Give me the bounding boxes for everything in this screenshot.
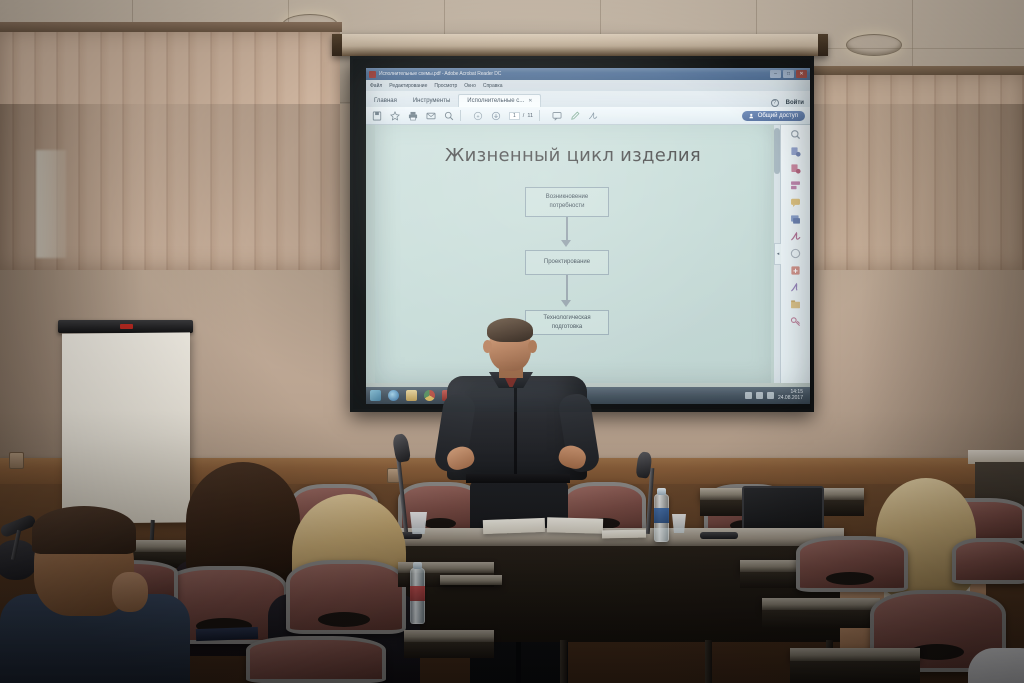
star-icon[interactable] bbox=[390, 111, 400, 121]
flowchart-arrow-head-icon bbox=[561, 240, 571, 247]
acrobat-icon bbox=[369, 71, 376, 78]
toolbar-nav-group[interactable]: 1 / 11 bbox=[467, 111, 533, 121]
comment-icon[interactable] bbox=[552, 111, 562, 121]
papers-on-table bbox=[602, 530, 646, 539]
water-bottle-label bbox=[410, 586, 425, 601]
flowchart-arrow-head-icon bbox=[561, 300, 571, 307]
share-button[interactable]: Общий доступ bbox=[742, 111, 805, 121]
menu-item-view[interactable]: Просмотр bbox=[434, 83, 457, 89]
projected-desktop[interactable]: Исполнительные схемы.pdf - Adobe Acrobat… bbox=[366, 68, 810, 404]
presenter-ear bbox=[483, 340, 492, 353]
tab-close-icon[interactable]: ✕ bbox=[528, 98, 532, 104]
tab-home[interactable]: Главная bbox=[366, 95, 405, 107]
pdf-page[interactable]: Жизненный цикл изделия Возникновение пот… bbox=[375, 125, 771, 383]
menu-item-edit[interactable]: Редактирование bbox=[389, 83, 427, 89]
fill-sign-icon[interactable] bbox=[790, 231, 801, 242]
slide-title: Жизненный цикл изделия bbox=[375, 145, 771, 166]
share-button-label: Общий доступ bbox=[758, 113, 798, 119]
create-pdf-icon[interactable] bbox=[790, 163, 801, 174]
toolbar-divider bbox=[539, 110, 540, 121]
presenter-hair bbox=[487, 318, 533, 342]
table-leg bbox=[560, 640, 567, 683]
menu-item-window[interactable]: Окно bbox=[464, 83, 476, 89]
flowchart-box-3: Технологическая подготовка bbox=[525, 310, 609, 335]
question-circle-icon[interactable]: ? bbox=[771, 99, 779, 107]
internet-explorer-icon[interactable] bbox=[388, 390, 399, 401]
audience-man-front-left-hair bbox=[32, 506, 136, 554]
blinds-rail-right bbox=[790, 66, 1024, 75]
minimize-button[interactable]: – bbox=[770, 70, 781, 78]
projector-screen-housing bbox=[332, 34, 828, 56]
presenter-belt bbox=[466, 474, 570, 483]
signature-icon[interactable] bbox=[588, 111, 598, 121]
acrobat-menu-bar[interactable]: Файл Редактирование Просмотр Окно Справк… bbox=[366, 80, 810, 91]
audience-man-front-left-hand bbox=[112, 572, 148, 612]
wall-outlet-icon bbox=[9, 452, 24, 469]
window-controls[interactable]: – □ ✕ bbox=[770, 70, 807, 78]
share-person-icon bbox=[749, 113, 755, 119]
flowchart-arrow-line bbox=[566, 275, 568, 303]
chair bbox=[952, 538, 1024, 584]
certificate-icon[interactable] bbox=[790, 316, 801, 327]
desk-side-panel bbox=[790, 661, 920, 683]
pan-hand-icon[interactable] bbox=[473, 111, 483, 121]
clock-date: 24.08.2017 bbox=[778, 396, 803, 402]
toolbar-divider bbox=[460, 110, 461, 121]
highlight-pen-icon[interactable] bbox=[570, 111, 580, 121]
desk bbox=[762, 598, 880, 610]
acrobat-account-area[interactable]: ? Войти bbox=[771, 99, 810, 107]
save-file-icon[interactable] bbox=[372, 111, 382, 121]
desk bbox=[790, 648, 920, 661]
acrobat-tab-strip[interactable]: Главная Инструменты Исполнительные с... … bbox=[366, 91, 810, 107]
screen-housing-end-cap bbox=[332, 34, 342, 56]
signin-link[interactable]: Войти bbox=[786, 100, 804, 106]
tablet-device bbox=[196, 627, 258, 641]
pdf-document-view[interactable]: Жизненный цикл изделия Возникновение пот… bbox=[366, 125, 780, 383]
windows-start-icon[interactable] bbox=[370, 390, 381, 401]
audience-far-right-partial bbox=[968, 648, 1024, 683]
select-download-icon[interactable] bbox=[491, 111, 501, 121]
microphone-base bbox=[700, 532, 738, 539]
presenter-ear bbox=[528, 340, 537, 353]
conference-room-scene: Исполнительные схемы.pdf - Adobe Acrobat… bbox=[0, 0, 1024, 683]
papers-on-table bbox=[547, 517, 603, 533]
menu-item-file[interactable]: Файл bbox=[370, 83, 382, 89]
chevron-left-icon[interactable]: ◂ bbox=[774, 243, 781, 265]
stamp-icon[interactable] bbox=[790, 299, 801, 310]
window-title: Исполнительные схемы.pdf - Adobe Acrobat… bbox=[379, 71, 501, 77]
combine-files-icon[interactable] bbox=[790, 214, 801, 225]
print-icon[interactable] bbox=[408, 111, 418, 121]
page-navigator[interactable]: 1 / 11 bbox=[509, 112, 533, 120]
maximize-button[interactable]: □ bbox=[783, 70, 794, 78]
tab-document-label: Исполнительные с... bbox=[467, 98, 524, 104]
chair-back-cutout bbox=[826, 572, 874, 585]
tab-tools[interactable]: Инструменты bbox=[405, 95, 458, 107]
folder-explorer-icon[interactable] bbox=[406, 390, 417, 401]
desk bbox=[404, 630, 494, 642]
table-leg bbox=[705, 640, 712, 683]
desk-side-panel bbox=[404, 642, 494, 658]
tab-document[interactable]: Исполнительные с... ✕ bbox=[458, 94, 541, 107]
acrobat-toolbar[interactable]: 1 / 11 Общий доступ bbox=[366, 107, 810, 125]
language-icon[interactable] bbox=[756, 392, 763, 399]
send-review-icon[interactable] bbox=[790, 248, 801, 259]
page-total: 11 bbox=[527, 113, 533, 119]
volume-icon[interactable] bbox=[767, 392, 774, 399]
ceiling-downlight-icon bbox=[846, 34, 902, 56]
comment-tool-icon[interactable] bbox=[790, 197, 801, 208]
water-bottle-cap bbox=[413, 562, 422, 569]
flowchart-box-1: Возникновение потребности bbox=[525, 187, 609, 217]
desk-side-panel bbox=[762, 610, 880, 628]
chair bbox=[246, 636, 386, 683]
blinds-rail-left bbox=[0, 22, 342, 32]
network-icon[interactable] bbox=[745, 392, 752, 399]
export-pdf-icon[interactable] bbox=[790, 146, 801, 157]
compress-icon[interactable] bbox=[790, 282, 801, 293]
close-button[interactable]: ✕ bbox=[796, 70, 807, 78]
drinking-cup bbox=[410, 512, 427, 534]
menu-item-help[interactable]: Справка bbox=[483, 83, 503, 89]
protect-icon[interactable] bbox=[790, 265, 801, 276]
taskbar-clock[interactable]: 14:15 24.08.2017 bbox=[778, 390, 803, 402]
search-tool-icon[interactable] bbox=[790, 129, 801, 140]
flipchart-brand-logo-icon bbox=[120, 324, 133, 329]
system-tray[interactable]: 14:15 24.08.2017 bbox=[745, 390, 806, 402]
page-separator: / bbox=[523, 113, 525, 119]
flipchart-paper bbox=[62, 332, 190, 523]
email-icon[interactable] bbox=[426, 111, 436, 121]
zoom-search-icon[interactable] bbox=[444, 111, 454, 121]
drinking-cup bbox=[672, 514, 686, 533]
screen-housing-end-cap bbox=[818, 34, 828, 56]
desk-edge bbox=[440, 575, 502, 585]
toolbar-file-group[interactable] bbox=[366, 111, 454, 121]
chrome-icon[interactable] bbox=[424, 390, 435, 401]
edit-pdf-icon[interactable] bbox=[790, 180, 801, 191]
water-bottle-label bbox=[654, 508, 669, 523]
chair-back-cutout bbox=[318, 612, 370, 627]
water-bottle-cap bbox=[657, 488, 666, 495]
toolbar-annotate-group[interactable] bbox=[546, 111, 598, 121]
presenter-shirt-placket bbox=[514, 386, 517, 474]
acrobat-title-bar: Исполнительные схемы.pdf - Adobe Acrobat… bbox=[366, 68, 810, 80]
acrobat-tools-rail[interactable]: ◂ bbox=[780, 125, 810, 383]
page-current-input[interactable]: 1 bbox=[509, 112, 520, 120]
papers-on-table bbox=[483, 518, 545, 534]
flowchart-box-2: Проектирование bbox=[525, 250, 609, 275]
